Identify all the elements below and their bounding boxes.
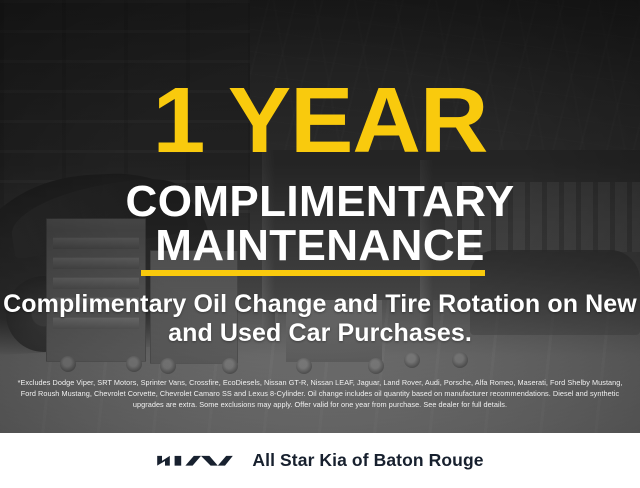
yellow-divider-rule bbox=[141, 270, 485, 276]
dealer-footer-bar: All Star Kia of Baton Rouge bbox=[0, 433, 640, 488]
promo-banner: 1 YEAR COMPLIMENTARY MAINTENANCE Complim… bbox=[0, 0, 640, 488]
headline-complimentary: COMPLIMENTARY bbox=[0, 180, 640, 224]
kia-logo bbox=[156, 450, 234, 472]
headline-maintenance: MAINTENANCE bbox=[0, 224, 640, 268]
offer-subheadline: Complimentary Oil Change and Tire Rotati… bbox=[0, 290, 640, 348]
legal-disclaimer: *Excludes Dodge Viper, SRT Motors, Sprin… bbox=[14, 378, 626, 411]
dealer-name: All Star Kia of Baton Rouge bbox=[252, 450, 483, 471]
banner-content: 1 YEAR COMPLIMENTARY MAINTENANCE Complim… bbox=[0, 0, 640, 433]
headline-year: 1 YEAR bbox=[0, 74, 640, 167]
